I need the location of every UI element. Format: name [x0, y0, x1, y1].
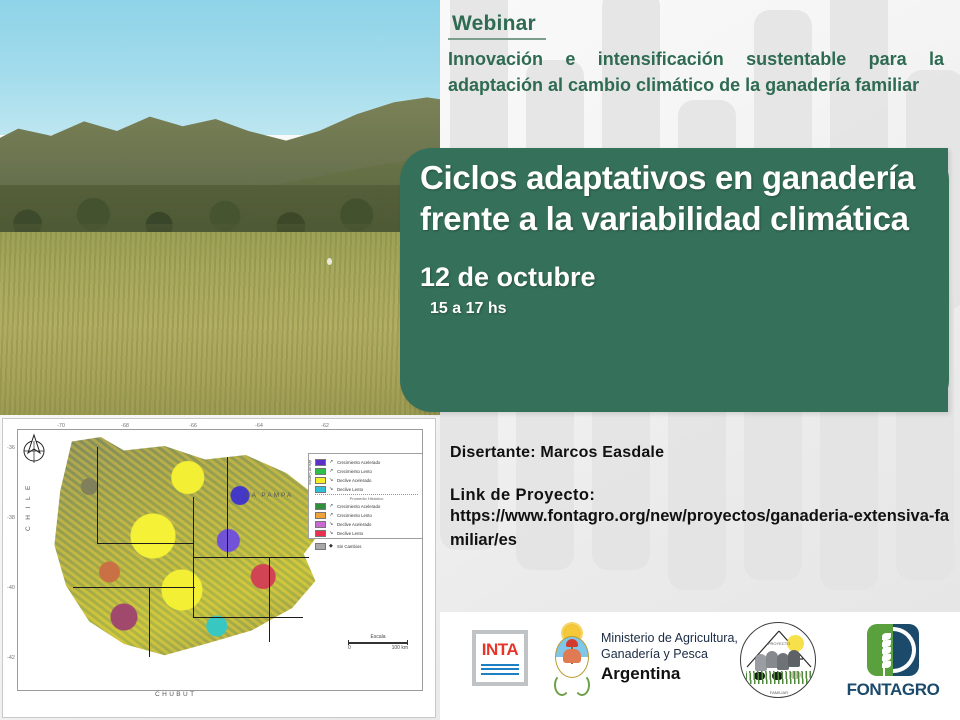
legend-separator-2: [315, 538, 418, 541]
argentina-shield-icon: [552, 622, 592, 694]
legend-separator: Promedio Histórico: [315, 494, 418, 501]
legend-item: ↘ Declive Lento: [315, 485, 418, 493]
map-tick: -38: [7, 515, 15, 521]
map-tick: -64: [255, 423, 263, 429]
map-label-chubut: CHUBUT: [155, 691, 196, 698]
scale-label: Escala: [348, 634, 408, 640]
inta-stripes-icon: [481, 661, 519, 675]
project-circle-caption: FAMILIAR: [741, 690, 816, 695]
photo-speck: [327, 258, 332, 265]
talk-panel: Ciclos adaptativos en ganadería frente a…: [400, 148, 948, 412]
legend-arrow: ↗: [329, 503, 337, 509]
fontagro-logo: FONTAGRO: [840, 624, 946, 700]
map-tick: -42: [7, 655, 15, 661]
legend-swatch: [315, 512, 326, 519]
fontagro-mark-icon: [867, 624, 919, 676]
ministerio-line-2: Ganadería y Pesca: [601, 647, 738, 662]
legend-swatch: [315, 503, 326, 510]
legend-label: Crecimiento Acelerado: [337, 460, 380, 465]
legend-swatch: [315, 486, 326, 493]
project-circle-top-text: PROYECTO: [741, 641, 816, 646]
header-block: Webinar Innovación e intensificación sus…: [448, 12, 948, 98]
legend-arrow: ↘: [329, 486, 337, 492]
legend-swatch: [315, 477, 326, 484]
talk-title: Ciclos adaptativos en ganadería frente a…: [420, 158, 928, 240]
project-circle-logo: PROYECTO FAMILIAR: [740, 622, 816, 698]
legend-label: Declive Lento: [337, 531, 363, 536]
map-label-la-pampa: LA PAMPA: [246, 492, 293, 499]
map-province-borders: [37, 437, 327, 662]
legend-label: Declive Acelerado: [337, 478, 371, 483]
legend-arrow: ↘: [329, 477, 337, 483]
scale-line-icon: [348, 642, 408, 644]
logo-strip: INTA Ministerio de Agricultura, Ganaderí…: [440, 612, 960, 720]
talk-date: 12 de octubre: [420, 262, 928, 293]
legend-arrow: ↘: [329, 521, 337, 527]
legend-arrow: ↘: [329, 530, 337, 536]
legend-item-no-change: ◆ Sin Cambios: [315, 542, 418, 550]
legend-label: Crecimiento Lento: [337, 469, 372, 474]
legend-label: Crecimiento Lento: [337, 513, 372, 518]
argentina-patagonia-map: C H I L E BUENOS AIRES LA PAMPA CHUBUT -…: [2, 418, 436, 718]
talk-time: 15 a 17 hs: [430, 300, 928, 318]
legend-item: ↗ Crecimiento Acelerado: [315, 502, 418, 510]
map-tick: -68: [121, 423, 129, 429]
legend-label: Declive Acelerado: [337, 522, 371, 527]
legend-group1-side-label: Año de Cambio: [308, 460, 312, 485]
webinar-poster: Webinar Innovación e intensificación sus…: [0, 0, 960, 720]
info-block: Disertante: Marcos Easdale Link de Proye…: [450, 444, 950, 553]
legend-arrow: ◆: [329, 543, 337, 549]
map-legend: Año de Cambio ↗ Crecimiento Acelerado ↗ …: [308, 453, 423, 539]
map-label-chile: C H I L E: [25, 483, 32, 531]
legend-arrow: ↗: [329, 468, 337, 474]
photo-grassland: [0, 232, 440, 415]
legend-arrow: ↗: [329, 459, 337, 465]
map-tick: -66: [189, 423, 197, 429]
landscape-photo: [0, 0, 440, 415]
scale-min: 0: [348, 645, 351, 651]
legend-item: ↗ Crecimiento Lento: [315, 467, 418, 475]
legend-label: Declive Lento: [337, 487, 363, 492]
legend-item: ↗ Crecimiento Lento: [315, 511, 418, 519]
legend-item: ↘ Declive Acelerado: [315, 476, 418, 484]
ministerio-line-1: Ministerio de Agricultura,: [601, 631, 738, 646]
legend-item: ↗ Crecimiento Acelerado: [315, 458, 418, 466]
legend-swatch: [315, 530, 326, 537]
map-tick: -70: [57, 423, 65, 429]
inta-logo-word: INTA: [482, 641, 518, 658]
legend-item: ↘ Declive Acelerado: [315, 520, 418, 528]
project-link-label: Link de Proyecto:: [450, 486, 950, 505]
grass-icon: [746, 671, 812, 684]
webinar-subtitle: Innovación e intensificación sustentable…: [448, 46, 944, 98]
map-tick: -62: [321, 423, 329, 429]
map-tick: -40: [7, 585, 15, 591]
legend-swatch: [315, 459, 326, 466]
legend-swatch: [315, 521, 326, 528]
legend-arrow: ↗: [329, 512, 337, 518]
ministerio-logo: Ministerio de Agricultura, Ganadería y P…: [552, 622, 738, 694]
scale-max: 100 km: [392, 645, 408, 651]
legend-label: Crecimiento Acelerado: [337, 504, 380, 509]
legend-item: ↘ Declive Lento: [315, 529, 418, 537]
project-link-url[interactable]: https://www.fontagro.org/new/proyectos/g…: [450, 505, 950, 553]
legend-swatch: [315, 543, 326, 550]
webinar-kicker: Webinar: [448, 12, 546, 40]
inta-logo: INTA: [472, 630, 528, 686]
fontagro-logo-word: FONTAGRO: [840, 680, 946, 700]
speaker-name: Disertante: Marcos Easdale: [450, 444, 950, 462]
map-scale-bar: Escala 0 100 km: [348, 634, 408, 651]
legend-label: Sin Cambios: [337, 544, 361, 549]
map-tick: -36: [7, 445, 15, 451]
ministerio-country: Argentina: [601, 664, 738, 685]
legend-swatch: [315, 468, 326, 475]
